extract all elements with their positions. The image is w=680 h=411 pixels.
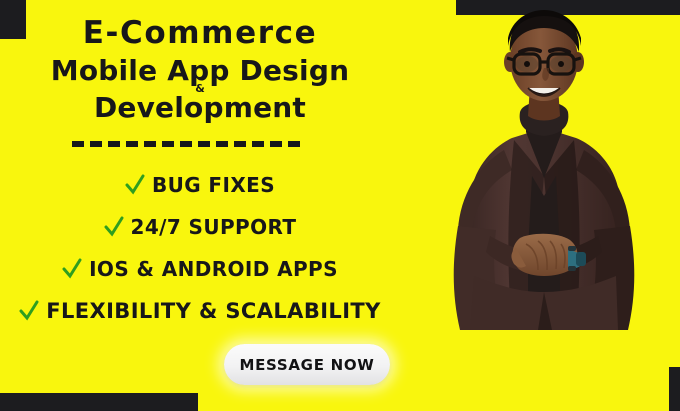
message-now-button[interactable]: MESSAGE NOW (224, 344, 390, 385)
feature-label: 24/7 SUPPORT (131, 215, 297, 239)
page-title: E-Commerce (0, 16, 400, 50)
check-icon (62, 258, 82, 280)
headline-group: E-Commerce Mobile App Design & Developme… (0, 16, 400, 123)
check-icon (104, 216, 124, 238)
bottom-left-bar (0, 393, 198, 411)
list-item: IOS & ANDROID APPS (0, 248, 400, 290)
list-item: 24/7 SUPPORT (0, 206, 400, 248)
feature-list: BUG FIXES 24/7 SUPPORT IOS & ANDROID APP… (0, 164, 400, 332)
feature-label: FLEXIBILITY & SCALABILITY (46, 299, 381, 323)
list-item: BUG FIXES (0, 164, 400, 206)
list-item: FLEXIBILITY & SCALABILITY (0, 290, 400, 332)
feature-label: IOS & ANDROID APPS (89, 257, 338, 281)
check-icon (19, 300, 39, 322)
feature-label: BUG FIXES (152, 173, 275, 197)
bottom-right-block (669, 367, 680, 411)
promo-banner: E-Commerce Mobile App Design & Developme… (0, 0, 680, 411)
check-icon (125, 174, 145, 196)
headline-line-3: Development (0, 93, 400, 122)
dashed-divider (72, 141, 300, 147)
headline-line-2: Mobile App Design (0, 56, 400, 85)
person-photo (408, 0, 680, 340)
